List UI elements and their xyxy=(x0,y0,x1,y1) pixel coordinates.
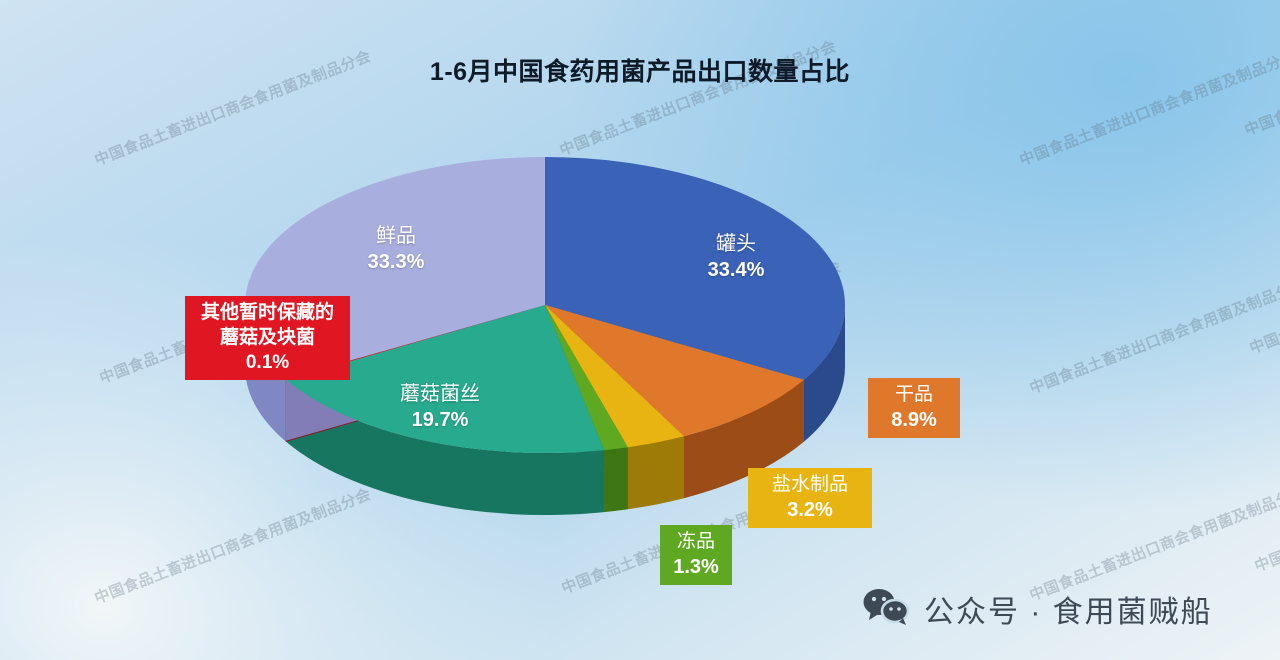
slice-name-line: 其他暂时保藏的 xyxy=(194,301,341,326)
slice-percent: 1.3% xyxy=(669,555,723,580)
slice-percent: 33.4% xyxy=(666,258,806,282)
callout-其他暂时保藏的蘑菇及块菌: 其他暂时保藏的蘑菇及块菌0.1% xyxy=(185,296,350,380)
wechat-footer: 公众号 · 食用菌贼船 xyxy=(862,586,1213,631)
slice-label-鲜品: 鲜品33.3% xyxy=(326,224,466,275)
slice-name: 盐水制品 xyxy=(757,473,863,497)
slice-percent: 19.7% xyxy=(370,408,510,432)
slice-name-line: 蘑菇及块菌 xyxy=(194,326,341,351)
slice-percent: 0.1% xyxy=(194,351,341,375)
slice-name: 冻品 xyxy=(669,530,723,554)
chart-canvas: 中国食品土畜进出口商会食用菌及制品分会中国食品土畜进出口商会食用菌及制品分会中国… xyxy=(0,0,1280,660)
slice-name: 蘑菇菌丝 xyxy=(370,382,510,406)
callout-盐水制品: 盐水制品3.2% xyxy=(748,468,872,528)
slice-percent: 8.9% xyxy=(877,408,951,433)
slice-name: 干品 xyxy=(877,383,951,407)
wechat-icon xyxy=(862,586,910,631)
slice-label-蘑菇菌丝: 蘑菇菌丝19.7% xyxy=(370,382,510,433)
chart-title: 1-6月中国食药用菌产品出口数量占比 xyxy=(0,52,1280,88)
slice-label-罐头: 罐头33.4% xyxy=(666,232,806,283)
slice-percent: 33.3% xyxy=(326,250,466,274)
slice-percent: 3.2% xyxy=(757,498,863,523)
slice-name: 鲜品 xyxy=(326,224,466,248)
callout-干品: 干品8.9% xyxy=(868,378,960,438)
wechat-label: 公众号 · 食用菌贼船 xyxy=(924,587,1213,631)
slice-name: 罐头 xyxy=(666,232,806,256)
callout-冻品: 冻品1.3% xyxy=(660,525,732,585)
